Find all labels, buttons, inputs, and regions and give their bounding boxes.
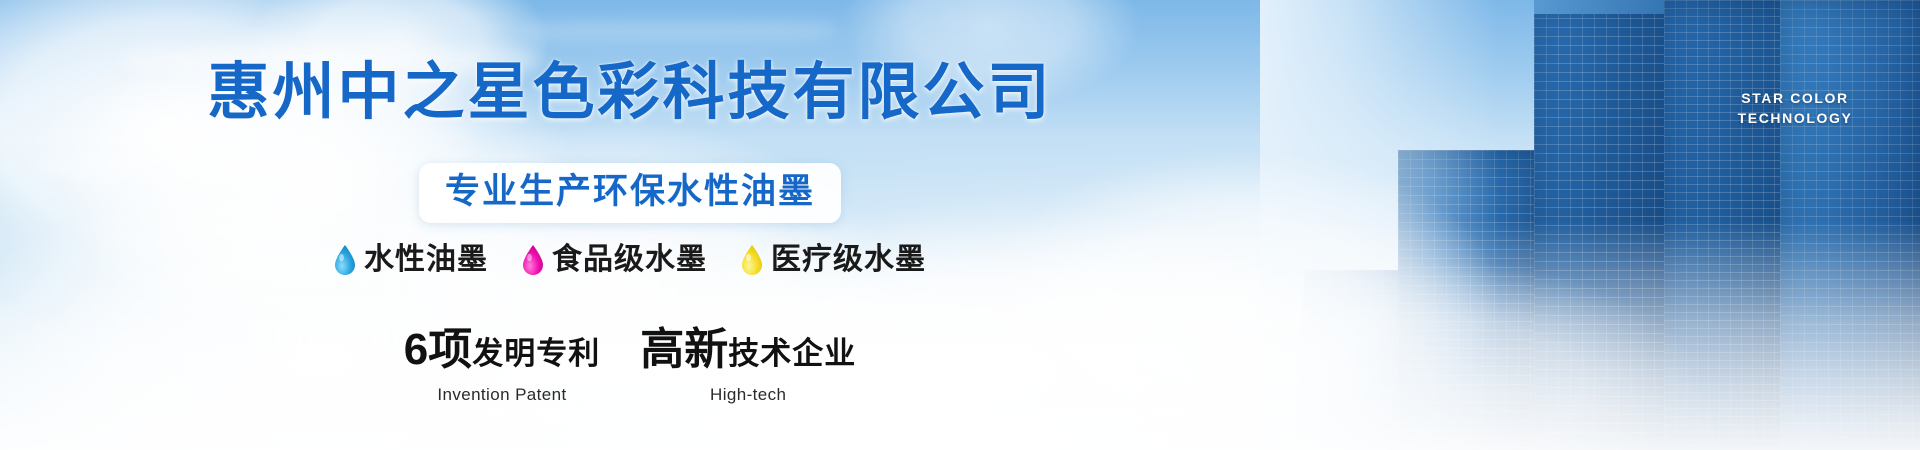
feature-item: 食品级水墨	[522, 243, 707, 277]
feature-item: 水性油墨	[334, 243, 488, 277]
subtitle-pill: 专业生产环保水性油墨	[419, 163, 841, 223]
banner-content: 惠州中之星色彩科技有限公司 专业生产环保水性油墨 水性油	[0, 0, 1260, 450]
badge-high-tech: 高新技术企业 High-tech	[640, 327, 856, 405]
badge-text: 技术企业	[728, 336, 856, 371]
building-brand-text: STAR COLOR TECHNOLOGY	[1700, 88, 1890, 128]
subtitle-container: 专业生产环保水性油墨	[0, 163, 1260, 223]
badge-cn-line: 6项发明专利	[404, 327, 600, 383]
water-droplet-icon	[522, 245, 544, 275]
feature-label: 医疗级水墨	[771, 243, 926, 277]
feature-label: 水性油墨	[364, 243, 488, 277]
feature-list: 水性油墨 食品级水墨	[0, 243, 1260, 277]
badge-invention-patent: 6项发明专利 Invention Patent	[404, 327, 600, 405]
building-brand-line2: TECHNOLOGY	[1700, 108, 1890, 128]
feature-item: 医疗级水墨	[741, 243, 926, 277]
building-brand-line1: STAR COLOR	[1700, 88, 1890, 108]
promo-banner: STAR COLOR TECHNOLOGY ⌃⌃ Star Color 惠州中之…	[0, 0, 1920, 450]
badge-en-label: High-tech	[640, 385, 856, 405]
feature-label: 食品级水墨	[552, 243, 707, 277]
tower-cap	[1534, 0, 1684, 14]
badge-cn-line: 高新技术企业	[640, 327, 856, 383]
water-droplet-icon	[334, 245, 356, 275]
badge-list: 6项发明专利 Invention Patent 高新技术企业 High-tech	[0, 327, 1260, 405]
badge-text: 发明专利	[472, 336, 600, 371]
badge-highlight: 高新	[640, 325, 728, 374]
badge-en-label: Invention Patent	[404, 385, 600, 405]
skyscraper-illustration	[1260, 0, 1920, 450]
badge-highlight: 6项	[404, 325, 472, 374]
page-title: 惠州中之星色彩科技有限公司	[0, 58, 1260, 128]
water-droplet-icon	[741, 245, 763, 275]
city-bottom-haze	[1260, 330, 1920, 450]
